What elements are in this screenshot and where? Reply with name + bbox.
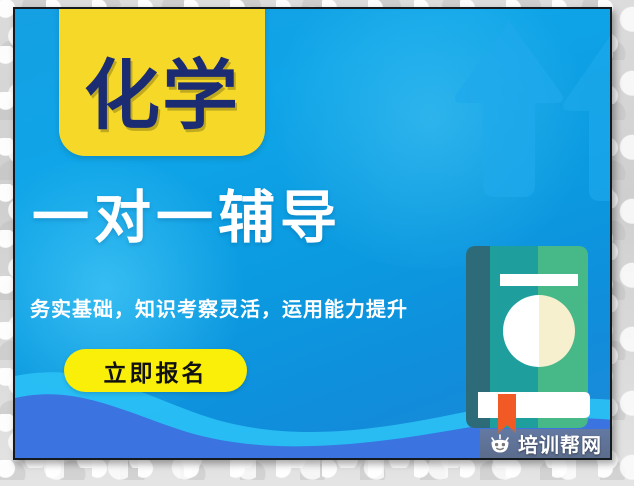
- banner-subtitle: 务实基础，知识考察灵活，运用能力提升: [30, 297, 408, 321]
- subject-badge-label: 化学: [84, 58, 240, 156]
- up-arrow-icon-small: [563, 23, 612, 203]
- watermark: 培训帮网: [480, 429, 610, 458]
- watermark-text: 培训帮网: [518, 429, 602, 458]
- enroll-now-button[interactable]: 立即报名: [64, 349, 247, 392]
- page-title: 一对一辅导: [32, 190, 472, 247]
- up-arrow-icon-large: [449, 17, 569, 202]
- smiley-sun-logo-icon: [489, 434, 511, 454]
- promo-banner-card: 化学 一对一辅导 务实基础，知识考察灵活，运用能力提升 立即报名: [13, 7, 612, 460]
- subject-badge: 化学: [59, 7, 265, 156]
- book-icon: [456, 242, 598, 443]
- page-backdrop: 化学 一对一辅导 务实基础，知识考察灵活，运用能力提升 立即报名: [0, 0, 634, 486]
- enroll-now-button-label: 立即报名: [104, 354, 208, 388]
